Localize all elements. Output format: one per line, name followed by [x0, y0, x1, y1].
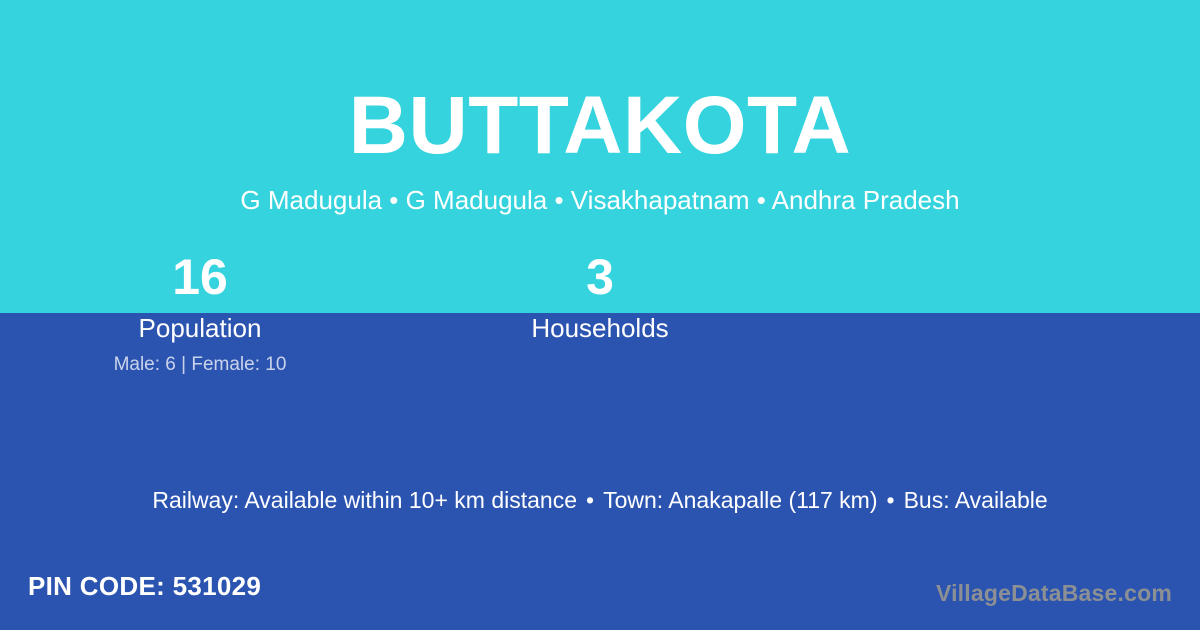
- amenity-bus: Bus: Available: [904, 487, 1048, 513]
- population-value: 16: [0, 248, 400, 306]
- stats-row: 16 Population 3 Households: [0, 248, 1200, 358]
- households-value: 3: [400, 248, 800, 306]
- amenities-row: Railway: Available within 10+ km distanc…: [0, 485, 1200, 515]
- stat-population: 16 Population: [0, 248, 400, 358]
- gender-breakdown: Male: 6 | Female: 10: [0, 352, 400, 378]
- pin-code: PIN CODE: 531029: [28, 570, 261, 602]
- amenity-separator-2: •: [878, 485, 904, 515]
- population-label: Population: [0, 312, 400, 344]
- site-watermark: VillageDataBase.com: [936, 578, 1172, 608]
- amenity-separator-1: •: [577, 485, 603, 515]
- amenity-railway: Railway: Available within 10+ km distanc…: [152, 487, 577, 513]
- page-title: BUTTAKOTA: [0, 80, 1200, 172]
- village-info-card: BUTTAKOTA G Madugula • G Madugula • Visa…: [0, 0, 1200, 630]
- stat-households: 3 Households: [400, 248, 800, 358]
- amenity-town: Town: Anakapalle (117 km): [603, 487, 877, 513]
- stat-spacer: [800, 248, 1200, 358]
- breadcrumb: G Madugula • G Madugula • Visakhapatnam …: [0, 183, 1200, 217]
- households-label: Households: [400, 312, 800, 344]
